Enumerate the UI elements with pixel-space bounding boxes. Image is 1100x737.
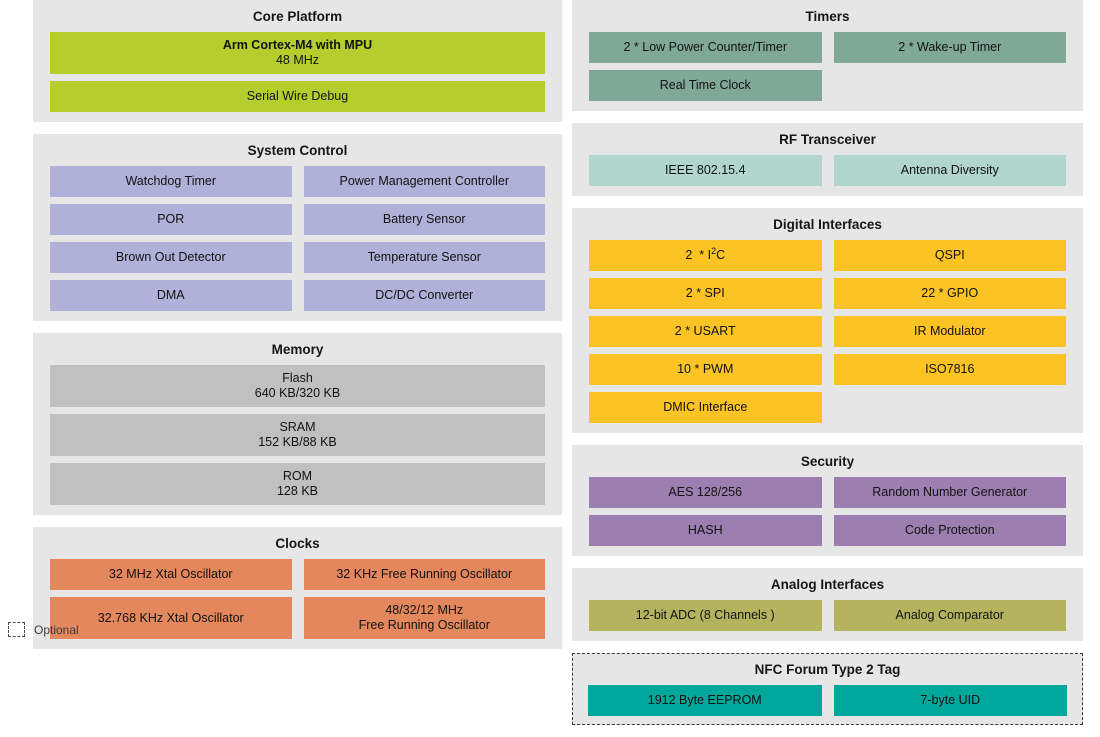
block-label: ROM	[283, 469, 312, 483]
block-sram[interactable]: SRAM152 KB/88 KB	[50, 414, 545, 456]
block-ir-modulator[interactable]: IR Modulator	[834, 316, 1067, 347]
block-row: 12-bit ADC (8 Channels )Analog Comparato…	[589, 600, 1066, 631]
block-2-spi[interactable]: 2 * SPI	[589, 278, 822, 309]
block-label: Arm Cortex-M4 with MPU	[223, 38, 372, 52]
block-22-gpio[interactable]: 22 * GPIO	[834, 278, 1067, 309]
block-spacer	[834, 70, 1067, 101]
block-2-wake-up-timer[interactable]: 2 * Wake-up Timer	[834, 32, 1067, 63]
panel-rows: Watchdog TimerPower Management Controlle…	[50, 166, 545, 311]
block-row: DMADC/DC Converter	[50, 280, 545, 311]
block-row: 2 * I2CQSPI	[589, 240, 1066, 271]
panel-core-platform: Core PlatformArm Cortex-M4 with MPU48 MH…	[33, 0, 562, 122]
block-label: Serial Wire Debug	[247, 89, 348, 103]
panel-timers: Timers2 * Low Power Counter/Timer2 * Wak…	[572, 0, 1083, 111]
block-label: 2 * Low Power Counter/Timer	[624, 40, 788, 54]
block-spacer	[834, 392, 1067, 423]
panel-rows: 1912 Byte EEPROM7-byte UID	[588, 685, 1067, 716]
block-row: Real Time Clock	[589, 70, 1066, 101]
block-row: Watchdog TimerPower Management Controlle…	[50, 166, 545, 197]
block-label: 32.768 KHz Xtal Oscillator	[98, 611, 244, 625]
block-antenna-diversity[interactable]: Antenna Diversity	[834, 155, 1067, 186]
block-aes-128-256[interactable]: AES 128/256	[589, 477, 822, 508]
block-10-pwm[interactable]: 10 * PWM	[589, 354, 822, 385]
block-sublabel: 128 KB	[277, 484, 318, 499]
block-row: Arm Cortex-M4 with MPU48 MHz	[50, 32, 545, 74]
block-label: IR Modulator	[914, 324, 986, 338]
block-row: PORBattery Sensor	[50, 204, 545, 235]
block-2-usart[interactable]: 2 * USART	[589, 316, 822, 347]
panel-rows: AES 128/256Random Number GeneratorHASHCo…	[589, 477, 1066, 546]
block-arm-cortex-m4-with-mpu[interactable]: Arm Cortex-M4 with MPU48 MHz	[50, 32, 545, 74]
block-label: AES 128/256	[668, 485, 742, 499]
block-dmic-interface[interactable]: DMIC Interface	[589, 392, 822, 423]
block-label: Random Number Generator	[872, 485, 1027, 499]
block-label: QSPI	[935, 248, 965, 262]
block-label: Battery Sensor	[383, 212, 466, 226]
block-label: Power Management Controller	[339, 174, 509, 188]
block-sublabel: 152 KB/88 KB	[258, 435, 337, 450]
panel-clocks: Clocks32 MHz Xtal Oscillator32 KHz Free …	[33, 527, 562, 649]
panel-title-clocks: Clocks	[50, 533, 545, 559]
block-1912-byte-eeprom[interactable]: 1912 Byte EEPROM	[588, 685, 822, 716]
panel-digital-interfaces: Digital Interfaces2 * I2CQSPI2 * SPI22 *…	[572, 208, 1083, 433]
block-label: DC/DC Converter	[375, 288, 473, 302]
block-12-bit-adc-8-channels[interactable]: 12-bit ADC (8 Channels )	[589, 600, 822, 631]
block-label: HASH	[688, 523, 723, 537]
panel-nfc-forum-type-2-tag: NFC Forum Type 2 Tag1912 Byte EEPROM7-by…	[572, 653, 1083, 725]
block-label: 32 MHz Xtal Oscillator	[109, 567, 233, 581]
block-label: Analog Comparator	[896, 608, 1004, 622]
block-48-32-12-mhz[interactable]: 48/32/12 MHzFree Running Oscillator	[304, 597, 546, 639]
block-row: 32.768 KHz Xtal Oscillator48/32/12 MHzFr…	[50, 597, 545, 639]
panel-rows: IEEE 802.15.4Antenna Diversity	[589, 155, 1066, 186]
block-qspi[interactable]: QSPI	[834, 240, 1067, 271]
block-2-low-power-counter-timer[interactable]: 2 * Low Power Counter/Timer	[589, 32, 822, 63]
block-hash[interactable]: HASH	[589, 515, 822, 546]
block-label: Antenna Diversity	[901, 163, 999, 177]
block-label: IEEE 802.15.4	[665, 163, 746, 177]
block-label: 48/32/12 MHz	[385, 603, 463, 617]
panel-rows: 32 MHz Xtal Oscillator32 KHz Free Runnin…	[50, 559, 545, 639]
block-temperature-sensor[interactable]: Temperature Sensor	[304, 242, 546, 273]
block-row: 32 MHz Xtal Oscillator32 KHz Free Runnin…	[50, 559, 545, 590]
right-column: Timers2 * Low Power Counter/Timer2 * Wak…	[572, 0, 1083, 737]
block-sublabel: 640 KB/320 KB	[255, 386, 340, 401]
block-row: Brown Out DetectorTemperature Sensor	[50, 242, 545, 273]
block-ieee-802-15-4[interactable]: IEEE 802.15.4	[589, 155, 822, 186]
block-row: 2 * USARTIR Modulator	[589, 316, 1066, 347]
panel-system-control: System ControlWatchdog TimerPower Manage…	[33, 134, 562, 321]
block-sublabel: 48 MHz	[223, 53, 372, 68]
dashed-square-icon	[8, 622, 25, 637]
panel-title-nfc-forum-type-2-tag: NFC Forum Type 2 Tag	[588, 659, 1067, 685]
legend: Optional	[8, 622, 79, 637]
block-label: 2 * USART	[675, 324, 736, 338]
block-label: Flash	[282, 371, 313, 385]
panel-title-timers: Timers	[589, 6, 1066, 32]
block-row: IEEE 802.15.4Antenna Diversity	[589, 155, 1066, 186]
block-row: 1912 Byte EEPROM7-byte UID	[588, 685, 1067, 716]
block-label: DMIC Interface	[663, 400, 747, 414]
block-label: DMA	[157, 288, 185, 302]
block-label: 22 * GPIO	[921, 286, 978, 300]
block-random-number-generator[interactable]: Random Number Generator	[834, 477, 1067, 508]
block-row: ROM128 KB	[50, 463, 545, 505]
block-por[interactable]: POR	[50, 204, 292, 235]
block-row: Serial Wire Debug	[50, 81, 545, 112]
block-row: HASHCode Protection	[589, 515, 1066, 546]
panel-rows: Flash640 KB/320 KBSRAM152 KB/88 KBROM128…	[50, 365, 545, 505]
block-row: 2 * SPI22 * GPIO	[589, 278, 1066, 309]
block-label: Watchdog Timer	[125, 174, 216, 188]
block-row: DMIC Interface	[589, 392, 1066, 423]
block-row: 10 * PWMISO7816	[589, 354, 1066, 385]
panel-rf-transceiver: RF TransceiverIEEE 802.15.4Antenna Diver…	[572, 123, 1083, 196]
block-2-i-c[interactable]: 2 * I2C	[589, 240, 822, 271]
panel-title-system-control: System Control	[50, 140, 545, 166]
left-column: Core PlatformArm Cortex-M4 with MPU48 MH…	[33, 0, 562, 661]
block-row: AES 128/256Random Number Generator	[589, 477, 1066, 508]
block-label: Real Time Clock	[660, 78, 751, 92]
block-label: 12-bit ADC (8 Channels )	[636, 608, 775, 622]
block-label: Code Protection	[905, 523, 995, 537]
block-label: 7-byte UID	[920, 693, 980, 707]
block-label: Temperature Sensor	[368, 250, 481, 264]
block-row: Flash640 KB/320 KB	[50, 365, 545, 407]
panel-rows: 2 * I2CQSPI2 * SPI22 * GPIO2 * USARTIR M…	[589, 240, 1066, 423]
block-label: 32 KHz Free Running Oscillator	[336, 567, 512, 581]
panel-title-analog-interfaces: Analog Interfaces	[589, 574, 1066, 600]
block-label: POR	[157, 212, 184, 226]
block-iso7816[interactable]: ISO7816	[834, 354, 1067, 385]
block-dc-dc-converter[interactable]: DC/DC Converter	[304, 280, 546, 311]
block-code-protection[interactable]: Code Protection	[834, 515, 1067, 546]
block-label: 2 * SPI	[686, 286, 725, 300]
block-serial-wire-debug[interactable]: Serial Wire Debug	[50, 81, 545, 112]
block-32-khz-free-running-oscillator[interactable]: 32 KHz Free Running Oscillator	[304, 559, 546, 590]
panel-memory: MemoryFlash640 KB/320 KBSRAM152 KB/88 KB…	[33, 333, 562, 515]
block-sublabel: Free Running Oscillator	[359, 618, 490, 633]
block-label: 2 * Wake-up Timer	[898, 40, 1001, 54]
block-label: SRAM	[279, 420, 315, 434]
panel-title-digital-interfaces: Digital Interfaces	[589, 214, 1066, 240]
panel-rows: Arm Cortex-M4 with MPU48 MHzSerial Wire …	[50, 32, 545, 112]
block-row: 2 * Low Power Counter/Timer2 * Wake-up T…	[589, 32, 1066, 63]
block-battery-sensor[interactable]: Battery Sensor	[304, 204, 546, 235]
panel-title-security: Security	[589, 451, 1066, 477]
block-analog-comparator[interactable]: Analog Comparator	[834, 600, 1067, 631]
panel-title-memory: Memory	[50, 339, 545, 365]
block-label: Brown Out Detector	[116, 250, 226, 264]
block-watchdog-timer[interactable]: Watchdog Timer	[50, 166, 292, 197]
block-label: 1912 Byte EEPROM	[648, 693, 762, 707]
block-32-mhz-xtal-oscillator[interactable]: 32 MHz Xtal Oscillator	[50, 559, 292, 590]
panel-title-rf-transceiver: RF Transceiver	[589, 129, 1066, 155]
block-label: ISO7816	[925, 362, 974, 376]
panel-rows: 12-bit ADC (8 Channels )Analog Comparato…	[589, 600, 1066, 631]
block-flash[interactable]: Flash640 KB/320 KB	[50, 365, 545, 407]
block-label: 2 * I2C	[685, 248, 725, 262]
block-diagram: Core PlatformArm Cortex-M4 with MPU48 MH…	[0, 0, 1100, 646]
block-32-768-khz-xtal-oscillator[interactable]: 32.768 KHz Xtal Oscillator	[50, 597, 292, 639]
panel-security: SecurityAES 128/256Random Number Generat…	[572, 445, 1083, 556]
panel-title-core-platform: Core Platform	[50, 6, 545, 32]
block-brown-out-detector[interactable]: Brown Out Detector	[50, 242, 292, 273]
block-real-time-clock[interactable]: Real Time Clock	[589, 70, 822, 101]
block-power-management-controller[interactable]: Power Management Controller	[304, 166, 546, 197]
block-label: 10 * PWM	[677, 362, 733, 376]
block-7-byte-uid[interactable]: 7-byte UID	[834, 685, 1068, 716]
legend-label: Optional	[34, 623, 79, 637]
panel-analog-interfaces: Analog Interfaces12-bit ADC (8 Channels …	[572, 568, 1083, 641]
block-row: SRAM152 KB/88 KB	[50, 414, 545, 456]
block-rom[interactable]: ROM128 KB	[50, 463, 545, 505]
block-dma[interactable]: DMA	[50, 280, 292, 311]
panel-rows: 2 * Low Power Counter/Timer2 * Wake-up T…	[589, 32, 1066, 101]
